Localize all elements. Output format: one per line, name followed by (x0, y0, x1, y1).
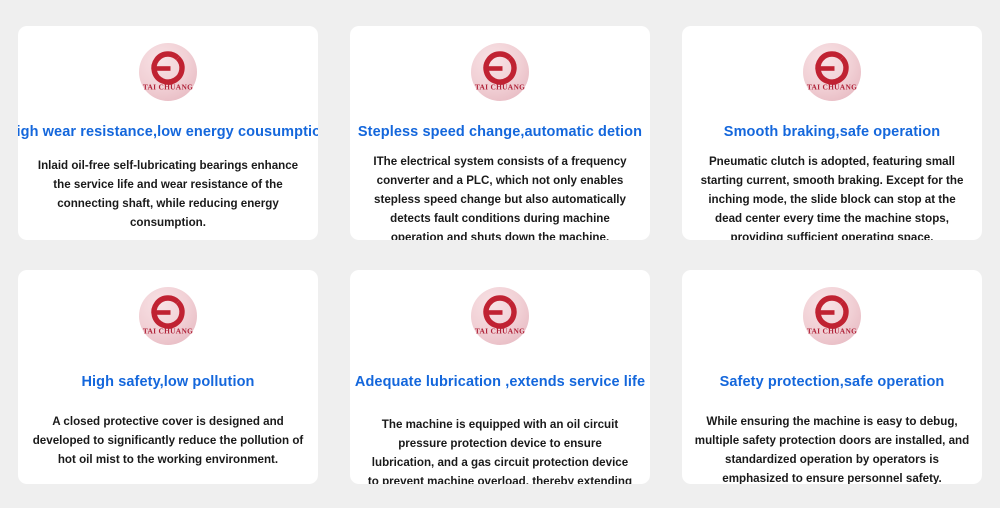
feature-card-grid: TAI CHUANG High wear resistance,low ener… (18, 26, 982, 484)
tai-chuang-logo-icon: TAI CHUANG (802, 286, 862, 346)
tai-chuang-logo-icon: TAI CHUANG (470, 42, 530, 102)
card-body-text: IThe electrical system consists of a fre… (364, 153, 636, 240)
svg-text:TAI CHUANG: TAI CHUANG (143, 83, 193, 92)
card-title: High safety,low pollution (81, 374, 254, 391)
card-body-text: A closed protective cover is designed an… (32, 413, 304, 469)
card-title: Adequate lubrication ,extends service li… (355, 374, 645, 391)
svg-text:TAI CHUANG: TAI CHUANG (143, 327, 193, 336)
svg-text:TAI CHUANG: TAI CHUANG (475, 83, 525, 92)
feature-card-safety-protection[interactable]: TAI CHUANG Safety protection,safe operat… (682, 270, 982, 484)
card-title: Stepless speed change,automatic detion (358, 124, 642, 141)
card-title: Safety protection,safe operation (720, 374, 945, 391)
svg-text:TAI CHUANG: TAI CHUANG (807, 327, 857, 336)
card-title: High wear resistance,low energy cousumpt… (18, 124, 318, 141)
feature-card-stepless-speed-change[interactable]: TAI CHUANG Stepless speed change,automat… (350, 26, 650, 240)
feature-card-adequate-lubrication[interactable]: TAI CHUANG Adequate lubrication ,extends… (350, 270, 650, 484)
feature-card-high-wear-resistance[interactable]: TAI CHUANG High wear resistance,low ener… (18, 26, 318, 240)
card-body-text: The machine is equipped with an oil circ… (367, 416, 633, 484)
tai-chuang-logo-icon: TAI CHUANG (470, 286, 530, 346)
tai-chuang-logo-icon: TAI CHUANG (802, 42, 862, 102)
feature-card-high-safety-low-pollution[interactable]: TAI CHUANG High safety,low pollution A c… (18, 270, 318, 484)
card-title: Smooth braking,safe operation (724, 124, 940, 141)
svg-text:TAI CHUANG: TAI CHUANG (475, 327, 525, 336)
card-body-text: Pneumatic clutch is adopted, featuring s… (693, 153, 970, 240)
tai-chuang-logo-icon: TAI CHUANG (138, 286, 198, 346)
card-body-text: Inlaid oil-free self-lubricating bearing… (38, 157, 298, 232)
svg-text:TAI CHUANG: TAI CHUANG (807, 83, 857, 92)
feature-card-smooth-braking[interactable]: TAI CHUANG Smooth braking,safe operation… (682, 26, 982, 240)
card-body-text: While ensuring the machine is easy to de… (693, 413, 970, 484)
tai-chuang-logo-icon: TAI CHUANG (138, 42, 198, 102)
